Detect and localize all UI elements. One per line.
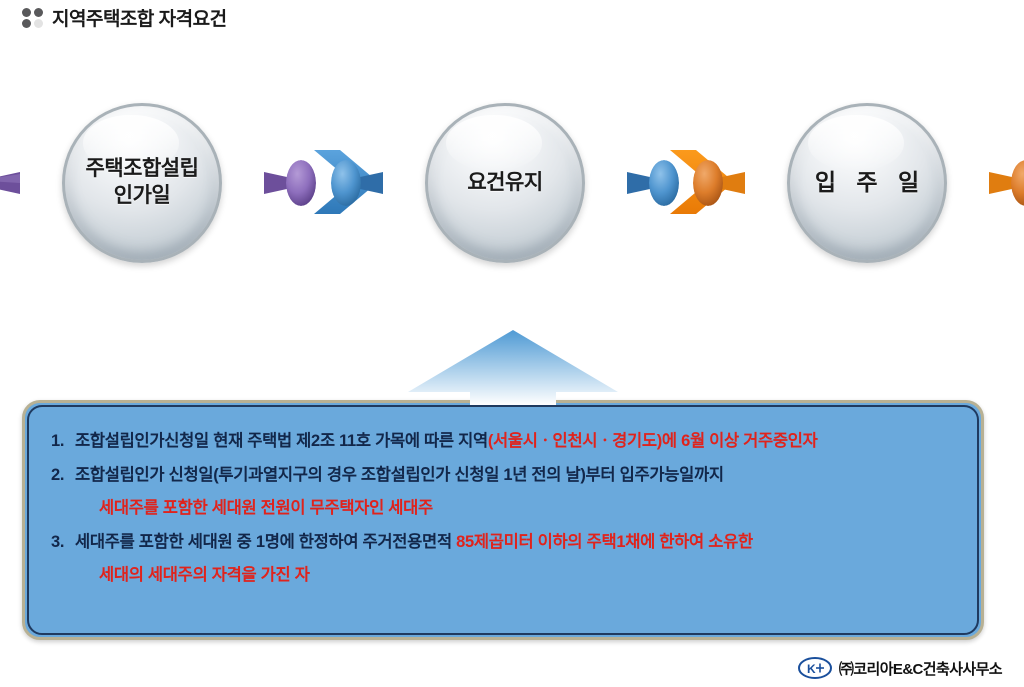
step-3-label-line1: 입 주 일 bbox=[808, 168, 926, 197]
item-3-highlight-2: 세대의 세대주의 자격을 가진 자 bbox=[99, 566, 310, 584]
item-1-highlight: (서울시ㆍ인천시ㆍ경기도)에 6월 이상 거주중인자 bbox=[488, 432, 818, 450]
flow-step-3: 입 주 일 bbox=[787, 103, 947, 263]
step-1-left-cone-icon bbox=[0, 172, 20, 194]
item-1-text: 조합설립인가신청일 현재 주택법 제2조 11호 가목에 따른 지역 bbox=[75, 432, 488, 450]
step-2-label-line1: 요건유지 bbox=[467, 170, 542, 197]
item-2-highlight: 세대주를 포함한 세대원 전원이 무주택자인 세대주 bbox=[99, 499, 433, 517]
item-3-text: 세대주를 포함한 세대원 중 1명에 한정하여 주거전용면적 bbox=[75, 533, 456, 551]
step-3-right-ellipse-icon bbox=[1011, 160, 1024, 206]
step-1-label: 주택조합설립 인가일 bbox=[62, 103, 222, 263]
footer-company-name: ㈜코리아E&C건축사사무소 bbox=[839, 658, 1002, 679]
list-item-continuation: 세대의 세대주의 자격을 가진 자 bbox=[51, 567, 961, 584]
step-1-label-line2: 인가일 bbox=[114, 183, 170, 210]
page-title: 지역주택조합 자격요건 bbox=[52, 4, 227, 31]
step-2-right-ellipse-icon bbox=[649, 160, 679, 206]
item-3-number: 3. bbox=[51, 534, 75, 551]
list-item: 3.세대주를 포함한 세대원 중 1명에 한정하여 주거전용면적 85제곱미터 … bbox=[51, 534, 961, 551]
requirements-box: 1.조합설립인가신청일 현재 주택법 제2조 11호 가목에 따른 지역(서울시… bbox=[22, 400, 984, 640]
step-1-right-ellipse-icon bbox=[286, 160, 316, 206]
flow-step-2: 요건유지 bbox=[425, 103, 585, 263]
step-2-label: 요건유지 bbox=[425, 103, 585, 263]
step-3-left-ellipse-icon bbox=[693, 160, 723, 206]
list-item: 2.조합설립인가 신청일(투기과열지구의 경우 조합설립인가 신청일 1년 전의… bbox=[51, 467, 961, 484]
korea-enc-logo-icon: K bbox=[798, 657, 832, 679]
list-item-continuation: 세대주를 포함한 세대원 전원이 무주택자인 세대주 bbox=[51, 500, 961, 517]
svg-text:K: K bbox=[807, 662, 816, 676]
step-1-label-line1: 주택조합설립 bbox=[86, 156, 199, 183]
four-dots-icon bbox=[22, 8, 44, 28]
item-1-number: 1. bbox=[51, 433, 75, 450]
slide-title-bar: 지역주택조합 자격요건 bbox=[0, 0, 1024, 40]
requirements-list: 1.조합설립인가신청일 현재 주택법 제2조 11호 가목에 따른 지역(서울시… bbox=[51, 433, 961, 601]
item-2-number: 2. bbox=[51, 467, 75, 484]
item-3-highlight: 85제곱미터 이하의 주택1채에 한하여 소유한 bbox=[456, 533, 753, 551]
step-3-label: 입 주 일 bbox=[787, 103, 947, 263]
item-2-text: 조합설립인가 신청일(투기과열지구의 경우 조합설립인가 신청일 1년 전의 날… bbox=[75, 466, 724, 484]
up-arrow-icon bbox=[408, 330, 618, 405]
flow-step-1: 주택조합설립 인가일 bbox=[62, 103, 222, 263]
step-2-left-ellipse-icon bbox=[331, 160, 361, 206]
list-item: 1.조합설립인가신청일 현재 주택법 제2조 11호 가목에 따른 지역(서울시… bbox=[51, 433, 961, 450]
footer: K ㈜코리아E&C건축사사무소 bbox=[798, 657, 1002, 679]
